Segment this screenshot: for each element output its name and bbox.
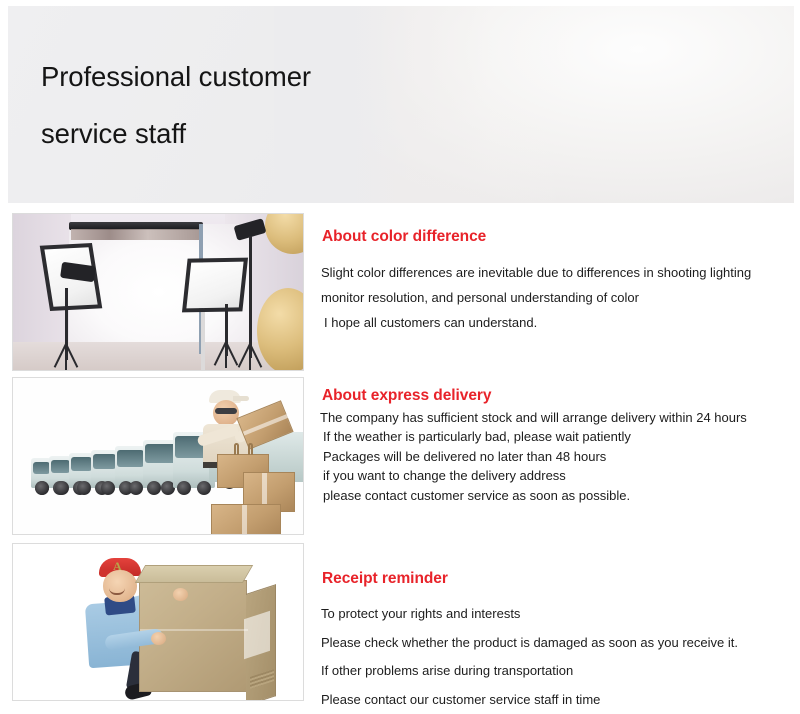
text-line: To protect your rights and interests [321,600,738,629]
text-line: If other problems arise during transport… [321,657,738,686]
banner-title-line-2: service staff [41,105,411,162]
text-line: If the weather is particularly bad, plea… [320,427,747,446]
photography-studio-illustration [13,214,303,370]
parcel-stack [209,454,295,535]
truck-fleet-illustration [13,378,303,534]
text-line: please contact customer service as soon … [320,486,747,505]
banner-title: Professional customer service staff [41,48,411,162]
box-shipping-label [244,611,270,659]
studio-cable [201,310,205,370]
studio-backdrop-roll [71,229,199,240]
color-difference-heading: About color difference [322,228,486,246]
parcel-box [211,504,281,535]
express-delivery-image [12,377,304,535]
studio-light-stand-right [249,236,252,358]
text-line: if you want to change the delivery addre… [320,466,747,485]
color-difference-text: Slight color differences are inevitable … [321,260,751,335]
receipt-reminder-text: To protect your rights and interests Ple… [321,600,738,714]
text-line: The company has sufficient stock and wil… [320,408,747,427]
express-delivery-heading: About express delivery [322,387,491,405]
receipt-reminder-heading: Receipt reminder [322,570,448,588]
express-delivery-text: The company has sufficient stock and wil… [320,408,747,505]
text-line: Please contact our customer service staf… [321,686,738,714]
banner-title-line-1: Professional customer [41,48,411,105]
studio-softbox-right [182,258,248,313]
text-line: I hope all customers can understand. [321,310,751,335]
courier-sunglasses-icon [215,408,237,414]
courier-head [103,570,137,602]
box-top-face [135,565,253,583]
header-banner: Professional customer service staff [8,6,794,203]
text-line: Packages will be delivered no later than… [320,447,747,466]
text-line: Please check whether the product is dama… [321,629,738,658]
receipt-reminder-image [12,543,304,701]
color-difference-image [12,213,304,371]
courier-hand-upper [173,588,188,601]
text-line: Slight color differences are inevitable … [321,260,751,285]
courier-with-box-illustration [13,544,303,700]
courier-hand-lower [151,632,166,645]
text-line: monitor resolution, and personal underst… [321,285,751,310]
